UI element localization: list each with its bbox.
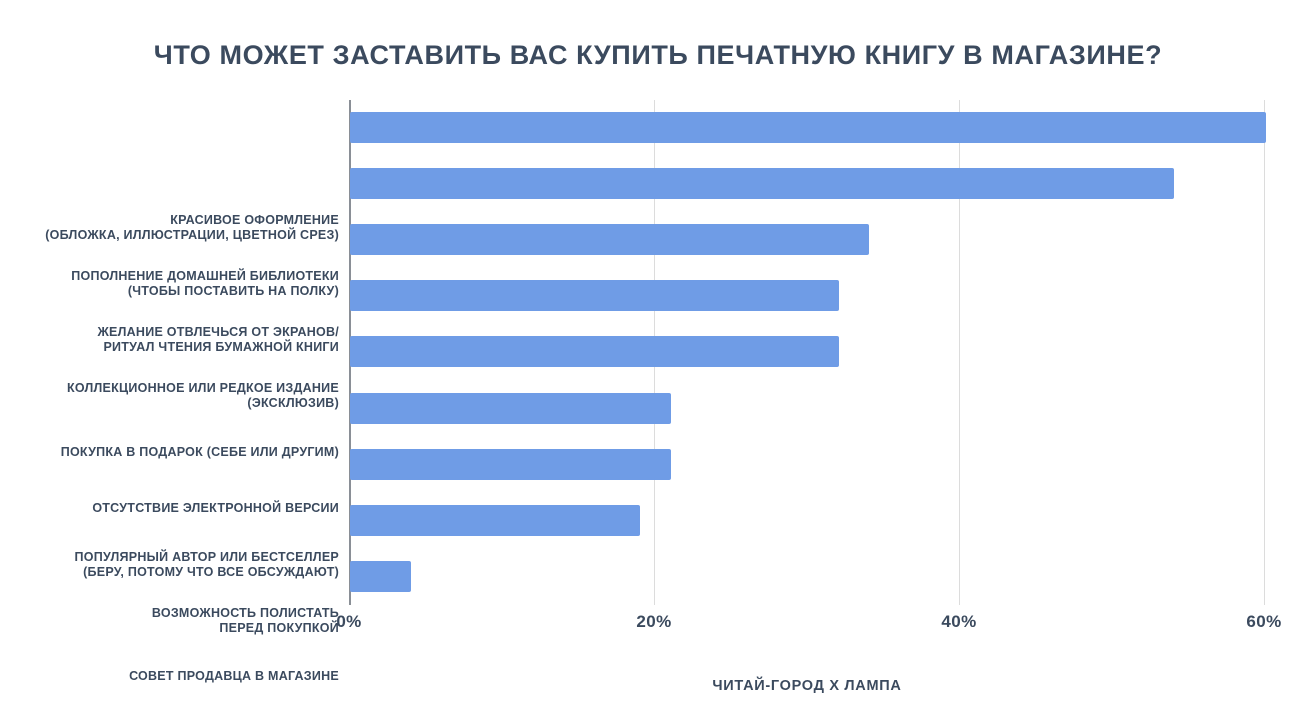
page-title: ЧТО МОЖЕТ ЗАСТАВИТЬ ВАС КУПИТЬ ПЕЧАТНУЮ …	[0, 40, 1316, 71]
bar-2	[350, 224, 869, 255]
category-label-row: ПОПУЛЯРНЫЙ АВТОР ИЛИ БЕСТСЕЛЛЕР (БЕРУ, П…	[0, 537, 339, 593]
bar-8	[350, 561, 411, 592]
category-label-row: СОВЕТ ПРОДАВЦА В МАГАЗИНЕ	[0, 649, 339, 705]
category-label: ОТСУТСТВИЕ ЭЛЕКТРОННОЙ ВЕРСИИ	[92, 501, 339, 516]
category-label-row: ОТСУТСТВИЕ ЭЛЕКТРОННОЙ ВЕРСИИ	[0, 481, 339, 537]
bar-1	[350, 168, 1174, 199]
plot-area: КРАСИВОЕ ОФОРМЛЕНИЕ (ОБЛОЖКА, ИЛЛЮСТРАЦИ…	[349, 100, 1265, 605]
bar-0	[350, 112, 1266, 143]
bar-4	[350, 336, 839, 367]
category-label-row: ВОЗМОЖНОСТЬ ПОЛИСТАТЬ ПЕРЕД ПОКУПКОЙ	[0, 593, 339, 649]
bar-5	[350, 393, 671, 424]
category-label: ПОПОЛНЕНИЕ ДОМАШНЕЙ БИБЛИОТЕКИ (ЧТОБЫ ПО…	[71, 269, 339, 299]
category-label: СОВЕТ ПРОДАВЦА В МАГАЗИНЕ	[129, 669, 339, 684]
category-label-row: КОЛЛЕКЦИОННОЕ ИЛИ РЕДКОЕ ИЗДАНИЕ (ЭКСКЛЮ…	[0, 368, 339, 424]
category-label-row: ПОКУПКА В ПОДАРОК (СЕБЕ ИЛИ ДРУГИМ)	[0, 424, 339, 480]
category-axis-labels: КРАСИВОЕ ОФОРМЛЕНИЕ (ОБЛОЖКА, ИЛЛЮСТРАЦИ…	[0, 200, 339, 705]
category-label-row: ПОПОЛНЕНИЕ ДОМАШНЕЙ БИБЛИОТЕКИ (ЧТОБЫ ПО…	[0, 256, 339, 312]
bar-6	[350, 449, 671, 480]
category-label-row: КРАСИВОЕ ОФОРМЛЕНИЕ (ОБЛОЖКА, ИЛЛЮСТРАЦИ…	[0, 200, 339, 256]
bar-7	[350, 505, 640, 536]
gridline-60	[1264, 100, 1265, 605]
category-label: ПОКУПКА В ПОДАРОК (СЕБЕ ИЛИ ДРУГИМ)	[61, 445, 339, 460]
category-label: КОЛЛЕКЦИОННОЕ ИЛИ РЕДКОЕ ИЗДАНИЕ (ЭКСКЛЮ…	[67, 381, 339, 411]
chart-figure: ЧТО МОЖЕТ ЗАСТАВИТЬ ВАС КУПИТЬ ПЕЧАТНУЮ …	[0, 0, 1316, 724]
x-tick-label-40: 40%	[941, 612, 976, 632]
x-tick-label-60: 60%	[1246, 612, 1281, 632]
x-tick-label-0: 0%	[336, 612, 361, 632]
category-label: ЖЕЛАНИЕ ОТВЛЕЧЬСЯ ОТ ЭКРАНОВ/ РИТУАЛ ЧТЕ…	[98, 325, 340, 355]
category-label: КРАСИВОЕ ОФОРМЛЕНИЕ (ОБЛОЖКА, ИЛЛЮСТРАЦИ…	[45, 213, 339, 243]
category-label: ПОПУЛЯРНЫЙ АВТОР ИЛИ БЕСТСЕЛЛЕР (БЕРУ, П…	[75, 550, 339, 580]
x-tick-label-20: 20%	[636, 612, 671, 632]
source-footer: ЧИТАЙ-ГОРОД Х ЛАМПА	[349, 678, 1265, 694]
bar-3	[350, 280, 839, 311]
category-label: ВОЗМОЖНОСТЬ ПОЛИСТАТЬ ПЕРЕД ПОКУПКОЙ	[152, 606, 339, 636]
category-label-row: ЖЕЛАНИЕ ОТВЛЕЧЬСЯ ОТ ЭКРАНОВ/ РИТУАЛ ЧТЕ…	[0, 312, 339, 368]
